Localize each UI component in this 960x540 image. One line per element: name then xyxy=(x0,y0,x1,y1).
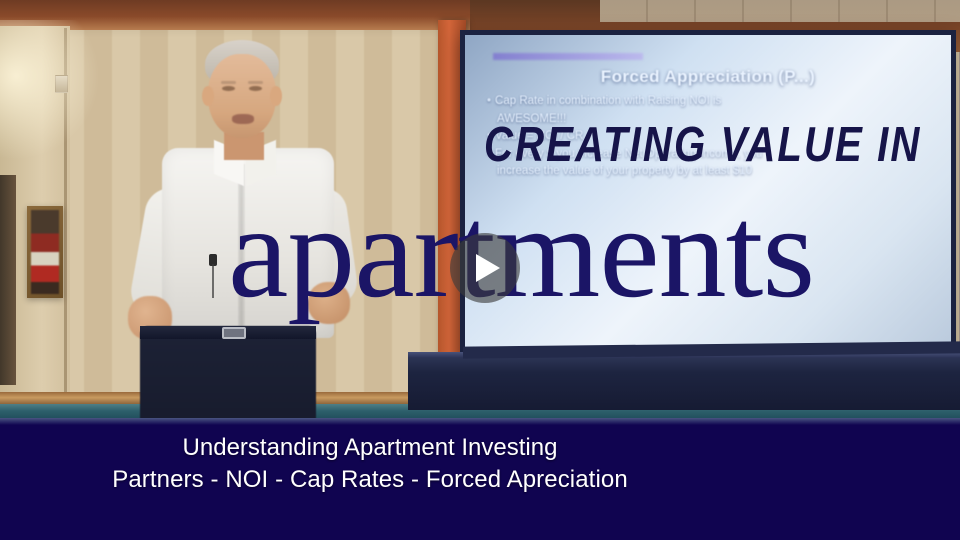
title-line-apartments: apartments xyxy=(228,186,960,318)
caption-banner: Understanding Apartment Investing Partne… xyxy=(0,418,960,540)
presenter-head xyxy=(208,54,276,138)
ceiling-tiles xyxy=(600,0,960,22)
video-player[interactable]: Forced Appreciation (P...) Cap Rate in c… xyxy=(0,0,960,540)
banner-top-fade xyxy=(0,418,960,425)
title-line-creating-value-in: CREATING VALUE IN xyxy=(484,117,873,173)
belt-buckle xyxy=(222,327,246,339)
light-switch xyxy=(55,75,68,93)
microphone-wire xyxy=(212,264,214,298)
play-button[interactable] xyxy=(450,233,520,303)
presenter-eye-left xyxy=(222,86,235,91)
caption-line-2: Partners - NOI - Cap Rates - Forced Apre… xyxy=(0,464,740,496)
caption-line-1: Understanding Apartment Investing xyxy=(0,432,740,464)
presenter-eye-right xyxy=(249,86,262,91)
slide-title: Forced Appreciation (P...) xyxy=(465,67,951,87)
skirted-table xyxy=(408,352,960,410)
video-frame[interactable]: Forced Appreciation (P...) Cap Rate in c… xyxy=(0,0,960,418)
presenter-trousers xyxy=(140,326,316,418)
wall-light-glow xyxy=(0,20,100,160)
presenter-brow-left xyxy=(221,81,236,84)
doorway-shadow xyxy=(0,175,16,385)
presenter-mouth xyxy=(232,114,254,124)
slide-bullet-1: Cap Rate in combination with Raising NOI… xyxy=(487,95,937,109)
artwork-canvas xyxy=(31,210,59,294)
presenter-ear-right xyxy=(270,86,282,106)
caption-text: Understanding Apartment Investing Partne… xyxy=(0,432,740,496)
framed-artwork xyxy=(27,206,63,298)
presenter-ear-left xyxy=(202,86,214,106)
slide-header-bar xyxy=(493,53,643,60)
play-triangle-icon xyxy=(476,254,500,282)
presenter-brow-right xyxy=(248,81,263,84)
